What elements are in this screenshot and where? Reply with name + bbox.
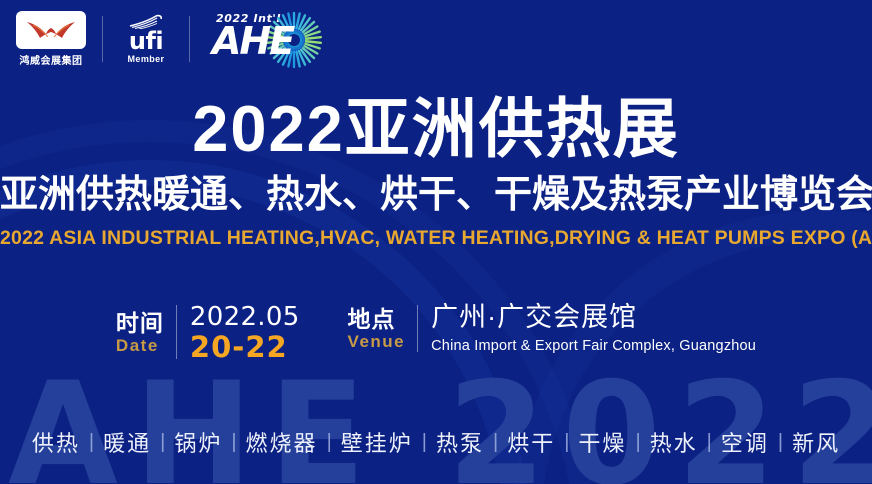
keyword-separator: | xyxy=(160,431,165,454)
venue-label-group: 地点 Venue xyxy=(348,303,418,356)
venue-label-cn: 地点 xyxy=(348,307,396,332)
keyword-separator: | xyxy=(707,431,712,454)
keyword-item[interactable]: 干燥 xyxy=(569,426,635,458)
keyword-separator: | xyxy=(493,431,498,454)
keyword-separator: | xyxy=(327,431,332,454)
date-value-group: 2022.05 20-22 xyxy=(177,303,300,363)
keyword-item[interactable]: 暖通 xyxy=(94,426,160,458)
ahe-logo[interactable]: 2022 Int'l AHE xyxy=(210,8,332,70)
keyword-item[interactable]: 空调 xyxy=(712,426,778,458)
ahe-wordmark: AHE xyxy=(212,22,293,60)
venue-label-en: Venue xyxy=(348,332,406,351)
keyword-separator: | xyxy=(564,431,569,454)
event-poster: AHE 2022 鸿威会展集团 xyxy=(0,0,872,484)
keyword-item[interactable]: 供热 xyxy=(23,426,89,458)
venue-block: 地点 Venue 广州·广交会展馆 China Import & Export … xyxy=(348,303,757,356)
organizer-logo[interactable]: 鸿威会展集团 xyxy=(14,11,88,67)
keyword-separator: | xyxy=(635,431,640,454)
keyword-strip: 供热|暖通|锅炉|燃烧器|壁挂炉|热泵|烘干|干燥|热水|空调|新风 xyxy=(0,426,872,458)
headline-block: 2022亚洲供热展 亚洲供热暖通、热水、烘干、干燥及热泵产业博览会 2022 A… xyxy=(0,96,872,250)
date-label-cn: 时间 xyxy=(116,311,164,336)
keyword-separator: | xyxy=(231,431,236,454)
venue-value-cn: 广州·广交会展馆 xyxy=(431,303,756,333)
ufi-wordmark: ufi xyxy=(129,30,163,53)
keyword-item[interactable]: 新风 xyxy=(783,426,849,458)
ufi-logo[interactable]: ufi Member xyxy=(117,14,175,64)
organizer-logo-card xyxy=(16,11,86,49)
keyword-separator: | xyxy=(778,431,783,454)
date-label-group: 时间 Date xyxy=(116,303,176,363)
watermark-text: AHE 2022 xyxy=(8,364,872,484)
date-label-en: Date xyxy=(116,336,159,355)
keyword-item[interactable]: 壁挂炉 xyxy=(332,426,422,458)
logo-bar: 鸿威会展集团 ufi Member xyxy=(0,0,872,78)
venue-value-group: 广州·广交会展馆 China Import & Export Fair Comp… xyxy=(418,303,756,356)
page-title: 2022亚洲供热展 xyxy=(0,96,872,162)
red-wing-w-icon xyxy=(25,19,77,41)
keyword-item[interactable]: 热泵 xyxy=(427,426,493,458)
logo-divider-2 xyxy=(189,16,190,62)
date-value-days: 20-22 xyxy=(190,332,300,363)
keyword-item[interactable]: 燃烧器 xyxy=(237,426,327,458)
keyword-item[interactable]: 热水 xyxy=(641,426,707,458)
date-block: 时间 Date 2022.05 20-22 xyxy=(116,303,300,363)
keyword-separator: | xyxy=(89,431,94,454)
keyword-item[interactable]: 烘干 xyxy=(498,426,564,458)
organizer-logo-label: 鸿威会展集团 xyxy=(20,52,83,67)
ufi-member-label: Member xyxy=(128,54,165,64)
venue-value-en: China Import & Export Fair Complex, Guan… xyxy=(431,337,756,356)
logo-divider-1 xyxy=(102,16,103,62)
page-subtitle-en: 2022 ASIA INDUSTRIAL HEATING,HVAC, WATER… xyxy=(0,227,872,250)
keyword-item[interactable]: 锅炉 xyxy=(165,426,231,458)
page-subtitle-cn: 亚洲供热暖通、热水、烘干、干燥及热泵产业博览会 xyxy=(0,176,872,216)
info-row: 时间 Date 2022.05 20-22 地点 Venue 广州·广交会展馆 … xyxy=(0,303,872,363)
date-value-month: 2022.05 xyxy=(190,303,300,332)
keyword-separator: | xyxy=(422,431,427,454)
